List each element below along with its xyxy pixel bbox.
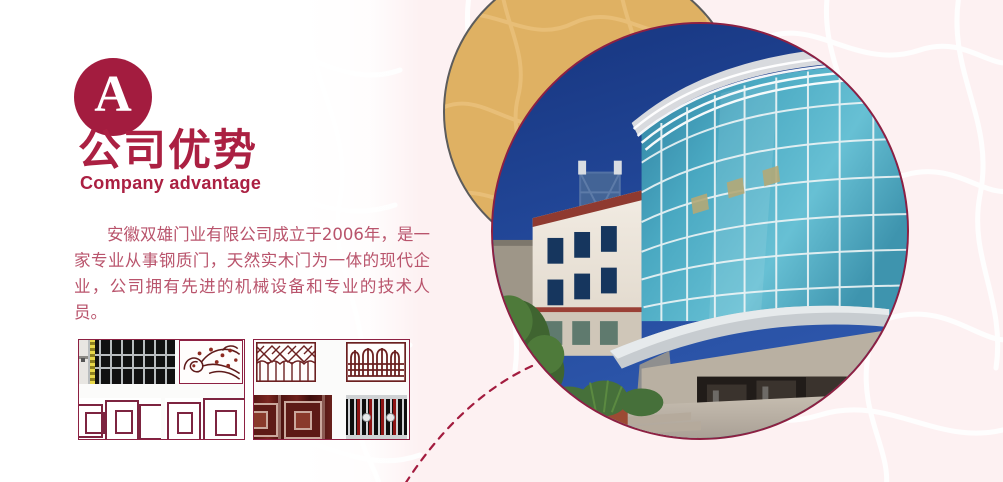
steel-door-bar-grid xyxy=(79,340,175,384)
chinese-fretwork-panel-2 xyxy=(165,398,245,439)
product-strip-left xyxy=(78,339,245,440)
arched-window-grille xyxy=(346,342,406,382)
page-title-cn: 公司优势 xyxy=(78,116,258,178)
company-description: 安徽双雄门业有限公司成立于2006年，是一家专业从事钢质门，天然实木门为一体的现… xyxy=(74,222,430,326)
carved-wood-door-panel xyxy=(254,395,332,439)
diamond-lattice-panel xyxy=(256,342,316,382)
building-illustration xyxy=(493,24,907,438)
scroll-vine-ironwork xyxy=(179,340,243,384)
red-black-railing-panel xyxy=(346,395,407,439)
product-strip-right xyxy=(253,339,410,440)
building-svg xyxy=(493,24,907,438)
company-building-photo xyxy=(491,22,909,440)
chinese-fretwork-panel xyxy=(79,398,161,439)
page-title-en: Company advantage xyxy=(80,173,261,194)
promo-banner: A 公司优势 Company advantage 安徽双雄门业有限公司成立于20… xyxy=(0,0,1003,482)
